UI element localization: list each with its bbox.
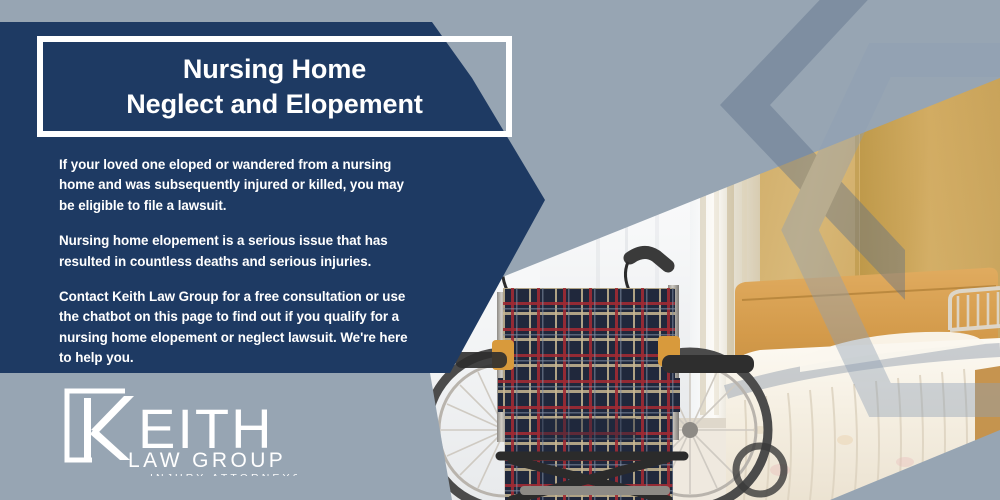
paragraph-1: If your loved one eloped or wandered fro… [59,155,414,216]
title-line-1: Nursing Home [183,52,366,86]
page-title: Nursing Home Neglect and Elopement [37,36,512,137]
keith-law-group-logo[interactable]: EITH LAW GROUP INJURY ATTORNEYS [62,386,297,476]
logo-tagline: INJURY ATTORNEYS [150,472,297,476]
paragraph-2: Nursing home elopement is a serious issu… [59,231,414,272]
gray-angled-wedge-bottom [830,430,1000,500]
title-line-2: Neglect and Elopement [126,87,422,121]
paragraph-3: Contact Keith Law Group for a free consu… [59,287,414,369]
banner-root: Nursing Home Neglect and Elopement If yo… [0,0,1000,500]
logo-subtitle: LAW GROUP [128,449,286,472]
content-column: Nursing Home Neglect and Elopement If yo… [0,0,560,500]
body-copy: If your loved one eloped or wandered fro… [59,155,414,368]
